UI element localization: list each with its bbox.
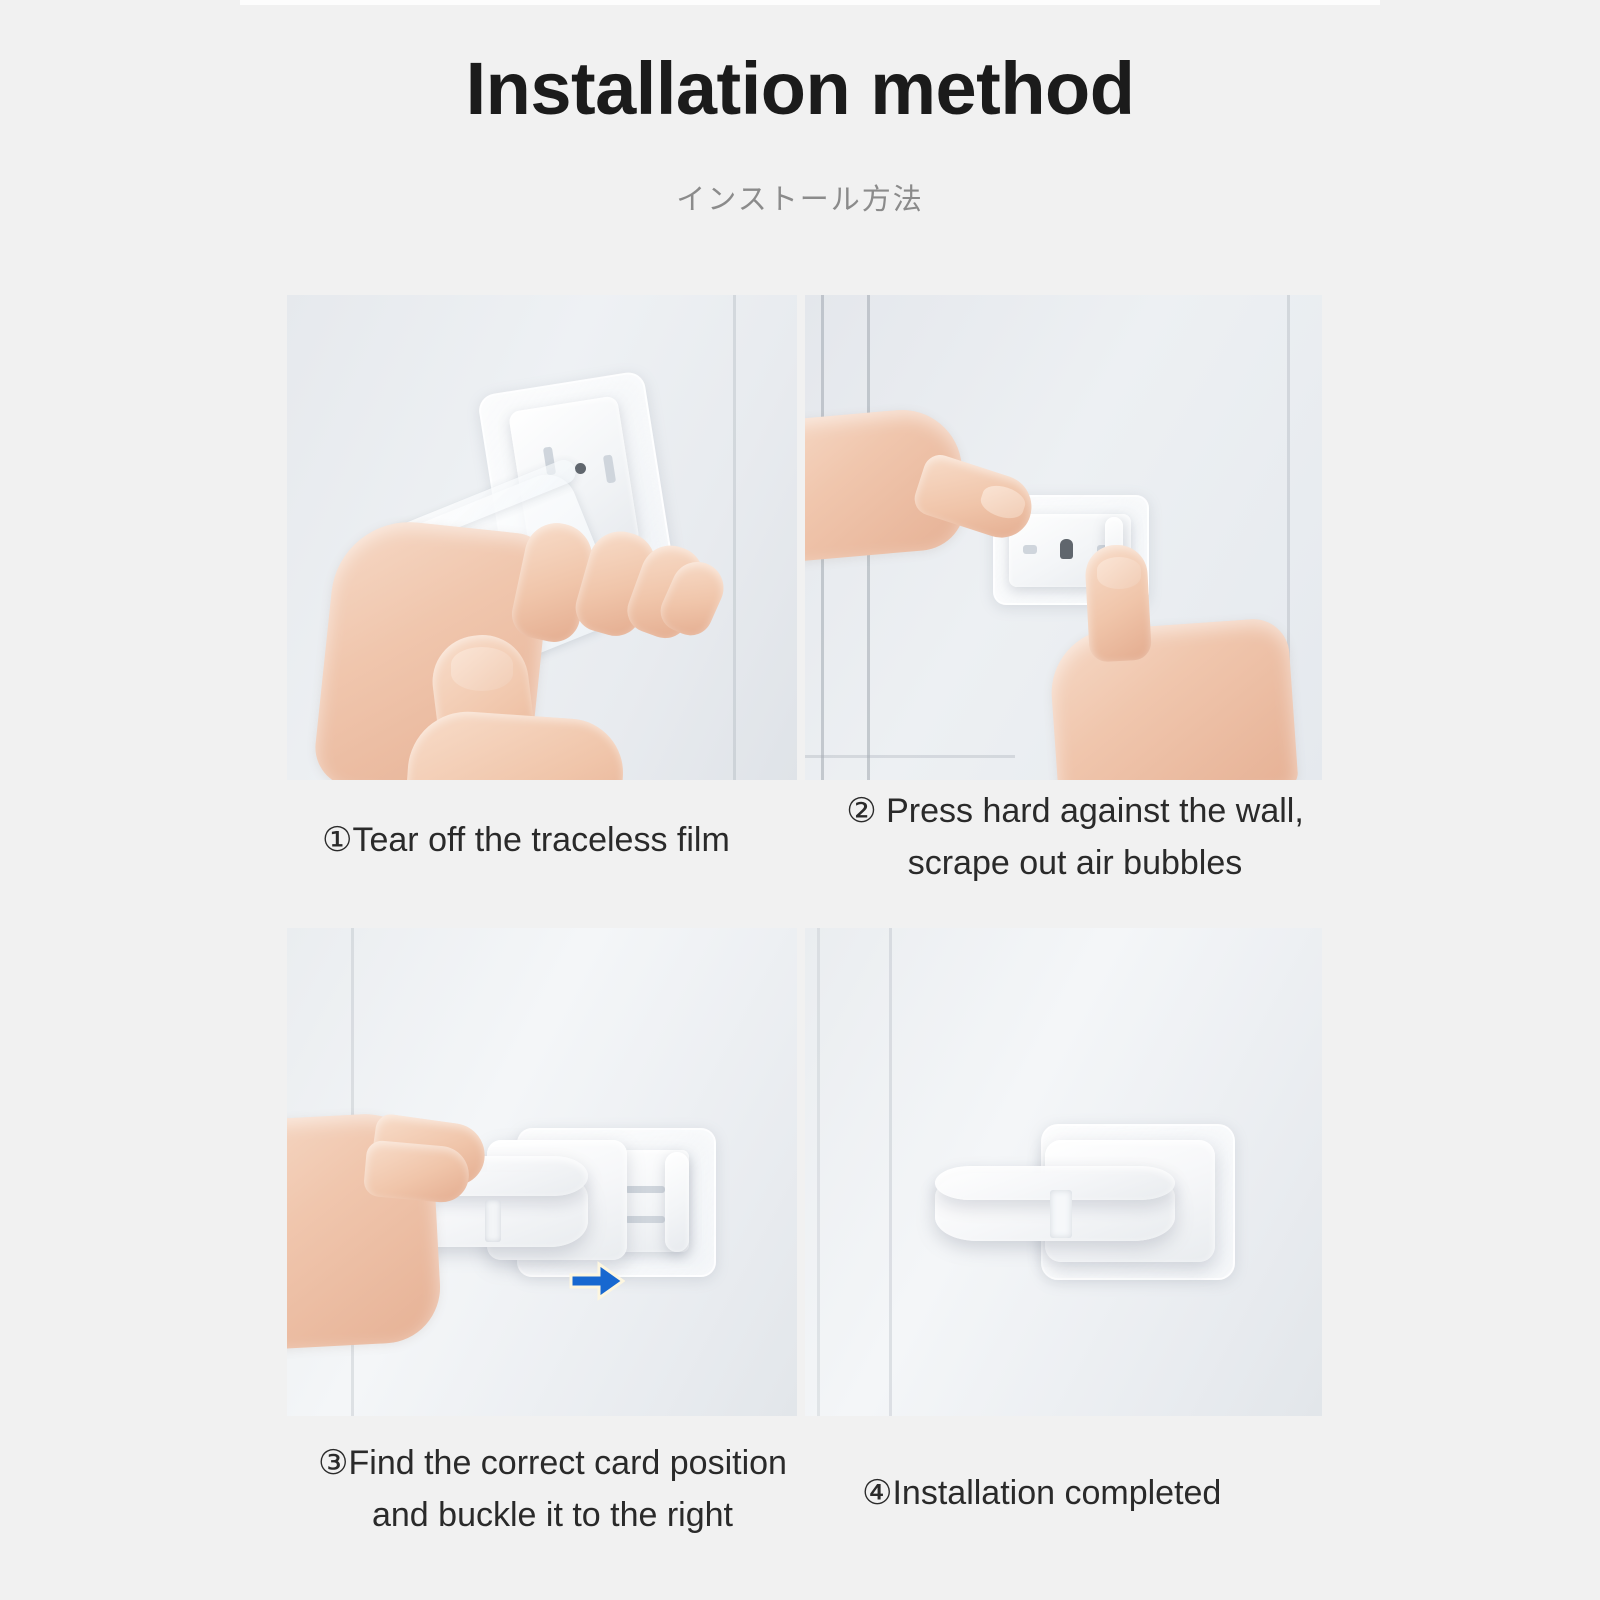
- thumb-nail: [451, 647, 513, 691]
- tile-grout-line: [733, 295, 736, 780]
- direction-arrow: [569, 1261, 625, 1301]
- step-1-photo: [287, 295, 797, 780]
- step-4-photo: [805, 928, 1322, 1416]
- step-2-photo: [805, 295, 1322, 780]
- step-1-panel: [287, 295, 797, 780]
- middle-finger: [363, 1140, 471, 1205]
- step-2-caption: ② Press hard against the wall, scrape ou…: [830, 786, 1320, 889]
- plate-keyhole: [1060, 539, 1073, 559]
- mount-front-tab: [665, 1152, 689, 1252]
- plate-rail: [625, 1186, 665, 1193]
- lower-hand: [1047, 617, 1298, 780]
- step-2-panel: [805, 295, 1322, 780]
- tile-grout-line: [889, 928, 892, 1416]
- step-4-caption: ④Installation completed: [862, 1468, 1322, 1520]
- step-3-panel: [287, 928, 797, 1416]
- lower-finger-nail: [1097, 557, 1141, 589]
- top-edge-strip: [240, 0, 1380, 5]
- holder-tray-notch: [1050, 1190, 1072, 1238]
- step-3-photo: [287, 928, 797, 1416]
- tile-grout-line: [817, 928, 820, 1416]
- step-1-caption: ①Tear off the traceless film: [322, 815, 792, 867]
- plate-rail: [625, 1216, 665, 1223]
- page-title: Installation method: [0, 52, 1600, 126]
- tile-grout-line: [805, 755, 1015, 758]
- plate-slot-left: [1023, 545, 1037, 554]
- page-header: Installation method インストール方法: [0, 52, 1600, 218]
- holder-tray-notch: [485, 1200, 501, 1242]
- page-subtitle: インストール方法: [0, 176, 1600, 218]
- step-3-caption: ③Find the correct card position and buck…: [305, 1438, 800, 1541]
- step-4-panel: [805, 928, 1322, 1416]
- plate-center-hole: [575, 463, 586, 474]
